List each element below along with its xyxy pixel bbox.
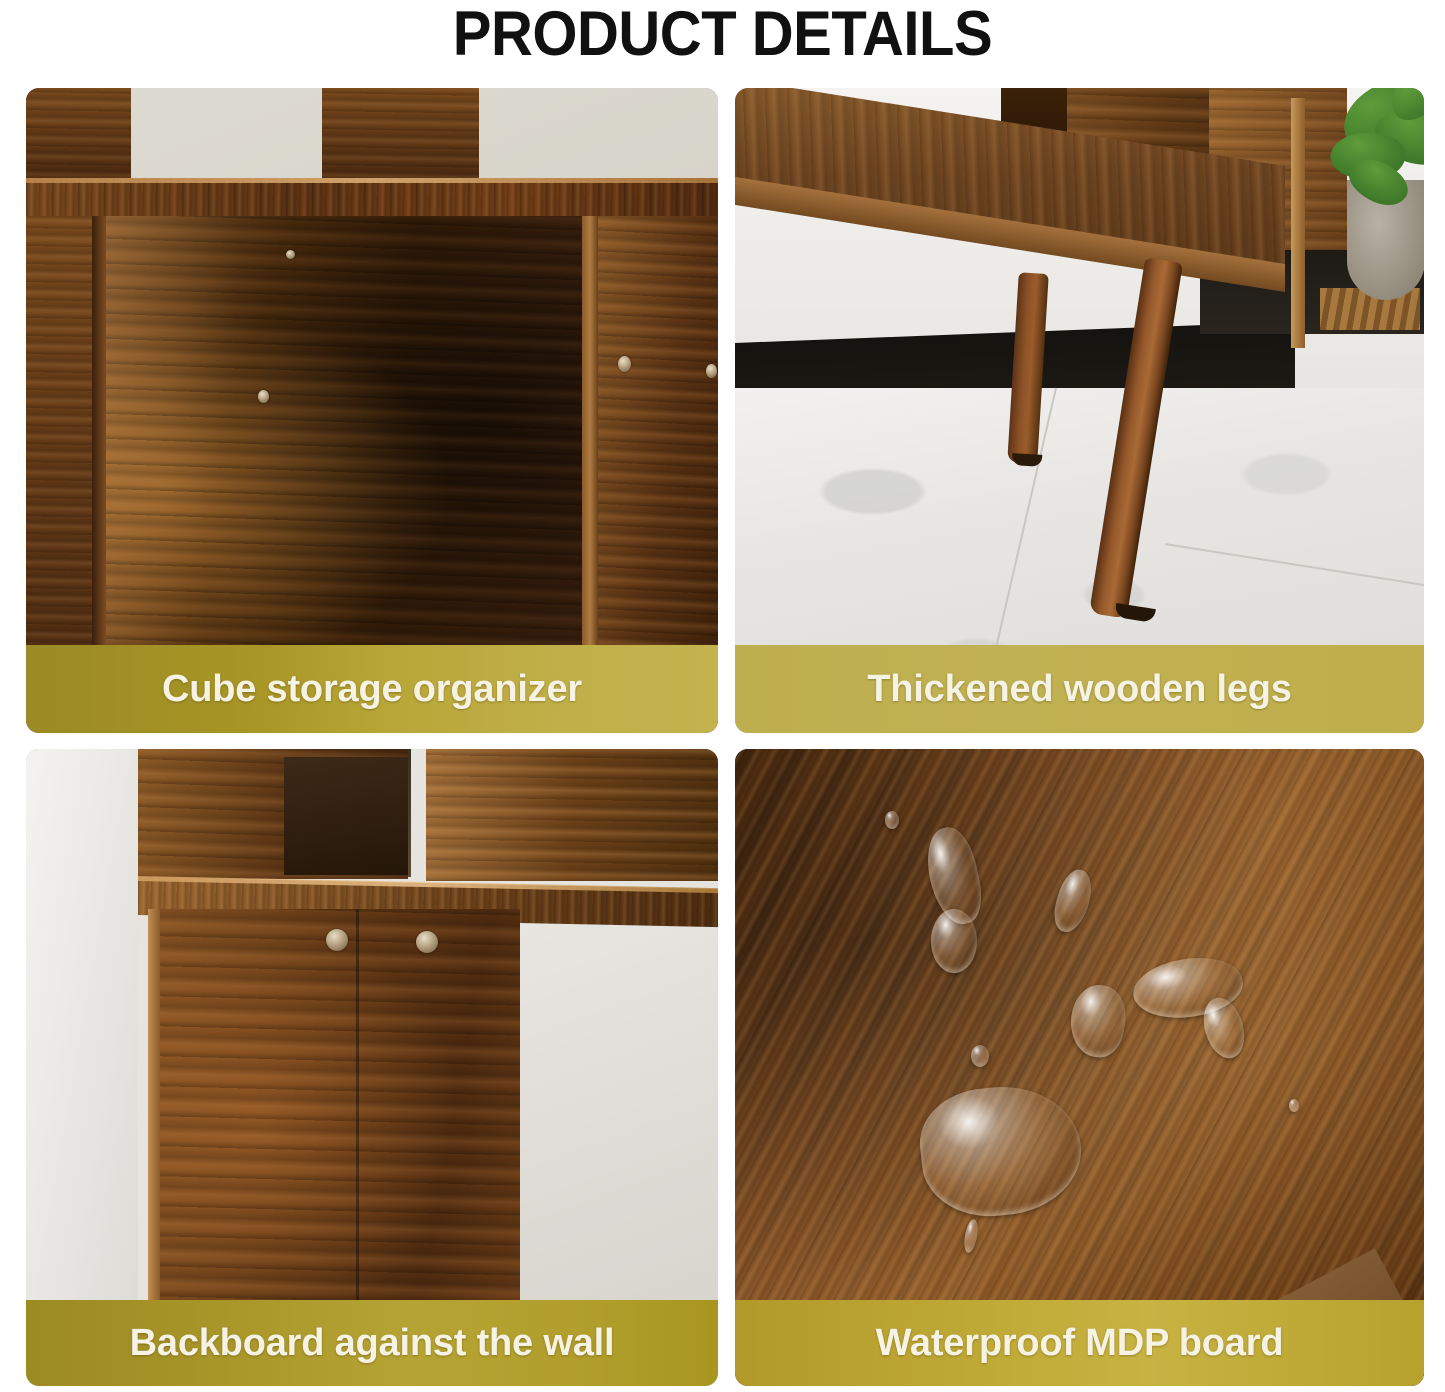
- cube-divider-left: [92, 216, 106, 714]
- water-droplet: [931, 909, 977, 973]
- caption-text: Cube storage organizer: [162, 668, 582, 711]
- photo-backboard-against-the-wall: [26, 749, 718, 1386]
- water-droplet: [1289, 1099, 1299, 1112]
- door-frame-trim: [1291, 98, 1305, 348]
- panel-caption-thickened-wooden-legs: Thickened wooden legs: [735, 645, 1424, 733]
- caption-text: Backboard against the wall: [130, 1322, 615, 1365]
- panel-caption-waterproof-mdp-board: Waterproof MDP board: [735, 1300, 1424, 1386]
- cube-main-gloss: [106, 216, 586, 714]
- photo-waterproof-mdp-board: [735, 749, 1424, 1386]
- shelf-top-rail-highlight: [26, 178, 718, 183]
- cube-upper-right: [426, 749, 718, 881]
- cube-divider-right: [582, 216, 598, 714]
- screw-icon: [326, 929, 348, 951]
- product-detail-grid: Cube storage organizer: [26, 88, 1424, 1386]
- product-details-page: PRODUCT DETAILS: [0, 0, 1445, 1392]
- wall-background-left: [26, 749, 138, 1386]
- photo-thickened-wooden-legs: [735, 88, 1424, 733]
- panel-caption-cube-storage-organizer: Cube storage organizer: [26, 645, 718, 733]
- cube-left-side: [26, 216, 94, 714]
- caption-text: Thickened wooden legs: [867, 668, 1291, 711]
- screw-icon: [258, 390, 269, 403]
- water-droplet: [885, 811, 899, 829]
- cube-upper-left-interior: [284, 757, 408, 875]
- screw-icon: [416, 931, 438, 953]
- cube-right-interior: [598, 216, 718, 714]
- detail-panel-thickened-wooden-legs[interactable]: Thickened wooden legs: [735, 88, 1424, 733]
- photo-cube-storage-organizer: [26, 88, 718, 733]
- shelf-top-left-post: [26, 88, 131, 182]
- caption-text: Waterproof MDP board: [876, 1322, 1284, 1365]
- page-title: PRODUCT DETAILS: [58, 0, 1387, 72]
- shelf-top-rail: [26, 178, 718, 216]
- panel-caption-backboard-against-the-wall: Backboard against the wall: [26, 1300, 718, 1386]
- screw-icon: [706, 364, 717, 378]
- detail-panel-cube-storage-organizer[interactable]: Cube storage organizer: [26, 88, 718, 733]
- screw-icon: [618, 356, 631, 372]
- detail-panel-waterproof-mdp-board[interactable]: Waterproof MDP board: [735, 749, 1424, 1386]
- shelf-top-divider: [322, 88, 479, 183]
- screw-icon: [286, 250, 295, 259]
- detail-panel-backboard-against-the-wall[interactable]: Backboard against the wall: [26, 749, 718, 1386]
- water-droplet: [971, 1045, 989, 1067]
